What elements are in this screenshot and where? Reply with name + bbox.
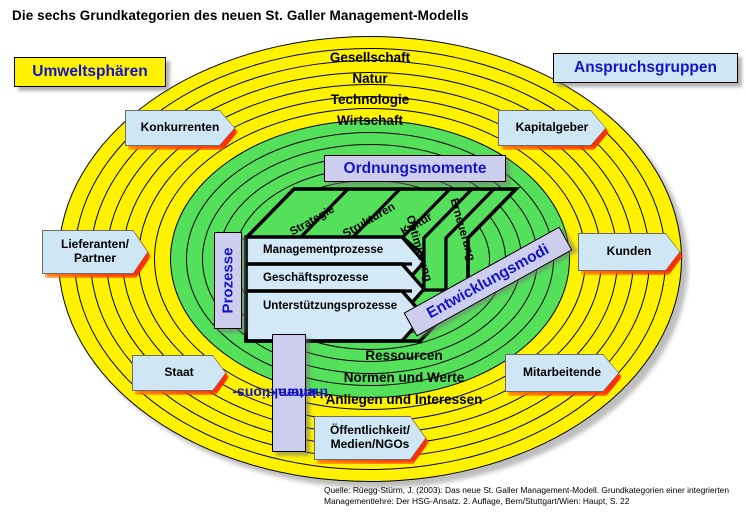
process-row-geschaeftsprozesse: Geschäftsprozesse	[263, 272, 368, 284]
category-ordnungsmomente[interactable]: Ordnungsmomente	[324, 155, 506, 182]
ring-label-technologie: Technologie	[58, 92, 682, 107]
stakeholder-staat[interactable]: Staat	[132, 355, 226, 391]
process-row-managementprozesse: Managementprozesse	[263, 244, 383, 256]
category-interaktionsthemen-label: Interaktions-themen	[267, 351, 311, 435]
category-anspruchsgruppen[interactable]: Anspruchsgruppen	[553, 53, 738, 83]
category-prozesse[interactable]: Prozesse	[214, 232, 242, 329]
stakeholder-staat-label: Staat	[133, 356, 226, 391]
diagram-canvas: Die sechs Grundkategorien des neuen St. …	[0, 0, 746, 513]
stakeholder-konkurrenten[interactable]: Konkurrenten	[125, 110, 235, 146]
category-umweltsphaeren[interactable]: Umweltsphären	[14, 57, 166, 87]
stakeholder-oeffentlichkeit-medien-ngos-label: Öffentlichkeit/ Medien/NGOs	[315, 417, 426, 460]
stakeholder-kunden[interactable]: Kunden	[578, 233, 680, 271]
interaktionsthemen-line2: themen	[262, 386, 346, 401]
stakeholder-kunden-label: Kunden	[579, 234, 680, 271]
stakeholder-oeffentlichkeit-medien-ngos[interactable]: Öffentlichkeit/ Medien/NGOs	[314, 416, 426, 460]
category-prozesse-label: Prozesse	[220, 248, 237, 314]
stakeholder-mitarbeitende-label: Mitarbeitende	[506, 355, 619, 392]
stakeholder-lieferanten-partner-label: Lieferanten/ Partner	[43, 231, 148, 274]
stakeholder-mitarbeitende[interactable]: Mitarbeitende	[505, 354, 619, 392]
process-row-unterstuetzungsprozesse: Unterstützungsprozesse	[263, 300, 397, 312]
stakeholder-kapitalgeber-label: Kapitalgeber	[499, 111, 606, 146]
category-interaktionsthemen[interactable]: Interaktions-themen	[272, 334, 306, 452]
source-citation: Quelle: Rüegg-Stürm, J. (2003): Das neue…	[324, 485, 738, 508]
stakeholder-kapitalgeber[interactable]: Kapitalgeber	[498, 110, 606, 146]
category-ordnungsmomente-label: Ordnungsmomente	[344, 160, 487, 178]
category-umweltsphaeren-label: Umweltsphären	[32, 63, 147, 81]
category-anspruchsgruppen-label: Anspruchsgruppen	[574, 59, 717, 77]
stakeholder-konkurrenten-label: Konkurrenten	[126, 111, 235, 146]
page-title: Die sechs Grundkategorien des neuen St. …	[12, 8, 469, 23]
stakeholder-lieferanten-partner[interactable]: Lieferanten/ Partner	[42, 230, 148, 274]
